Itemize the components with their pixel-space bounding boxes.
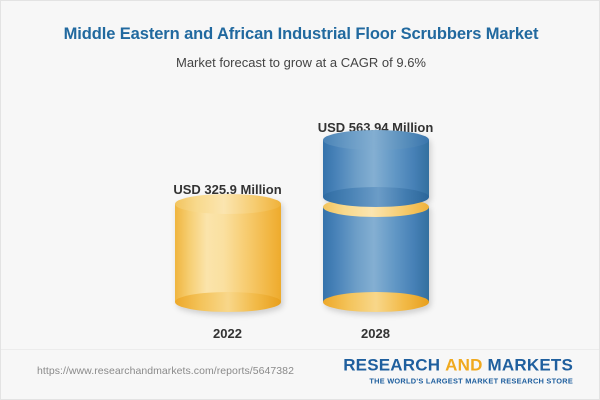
logo-word-markets: MARKETS (488, 356, 573, 375)
segment-bottom-cap (175, 292, 281, 312)
logo-word-and: AND (445, 356, 482, 375)
segment-top-cap (175, 194, 281, 214)
chart-subtitle: Market forecast to grow at a CAGR of 9.6… (1, 55, 600, 70)
segment-top-cap (323, 130, 429, 150)
segment-bottom-cap (323, 187, 429, 207)
bar-cylinder-2022[interactable] (175, 194, 281, 312)
segment-body (175, 204, 281, 302)
brand-logo: RESEARCH AND MARKETS THE WORLD'S LARGEST… (343, 357, 573, 386)
bar-segment-2028-base (323, 197, 429, 312)
logo-tagline: THE WORLD'S LARGEST MARKET RESEARCH STOR… (343, 376, 573, 385)
bar-cylinder-2028[interactable] (323, 130, 429, 312)
logo-wordmark: RESEARCH AND MARKETS (343, 357, 573, 375)
bar-segment-2022-base (175, 194, 281, 312)
chart-title: Middle Eastern and African Industrial Fl… (1, 25, 600, 44)
logo-word-research: RESEARCH (343, 356, 440, 375)
segment-body (323, 207, 429, 302)
category-label-2022: 2022 (161, 326, 294, 341)
bar-segment-2028-growth (323, 130, 429, 207)
plot-area: USD 325.9 Million 2022 USD 563.94 Millio… (1, 81, 600, 341)
footer-divider (1, 349, 600, 350)
chart-canvas: Middle Eastern and African Industrial Fl… (0, 0, 600, 400)
category-label-2028: 2028 (309, 326, 442, 341)
report-url[interactable]: https://www.researchandmarkets.com/repor… (37, 365, 294, 377)
segment-bottom-cap (323, 292, 429, 312)
